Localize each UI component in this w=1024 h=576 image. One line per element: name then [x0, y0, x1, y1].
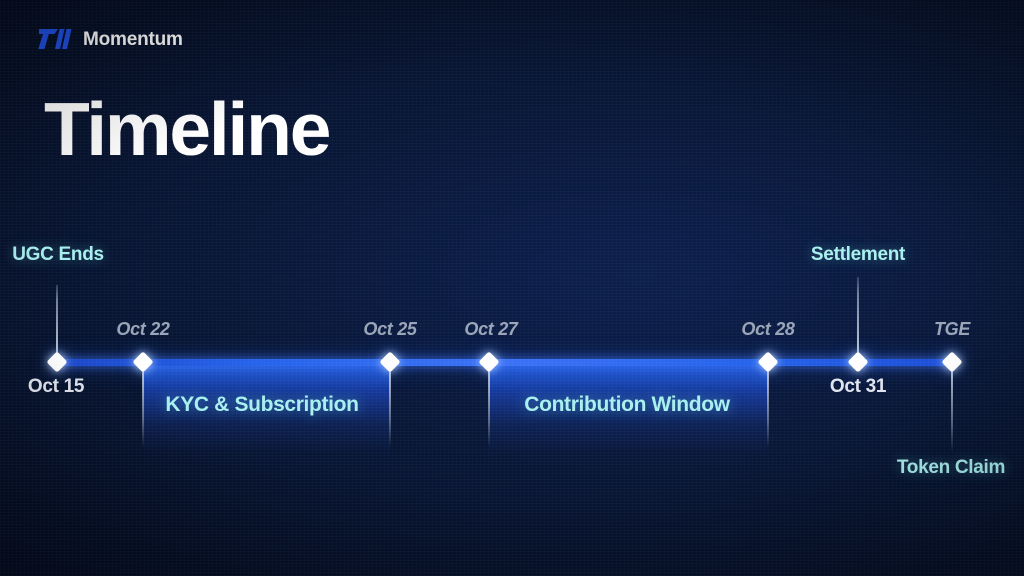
- phase-stem-oct-22: [142, 362, 144, 447]
- callout-label-ugc-ends: UGC Ends: [12, 244, 104, 266]
- date-label-oct-15: Oct 15: [28, 376, 84, 398]
- phase-stem-oct-27: [488, 362, 490, 447]
- phase-stem-oct-25: [389, 362, 391, 447]
- callout-stem-token-claim: [951, 362, 953, 452]
- date-label-oct-28: Oct 28: [741, 319, 794, 340]
- date-label-oct-22: Oct 22: [116, 319, 169, 340]
- timeline-axis: [57, 359, 952, 366]
- callout-stem-settlement: [857, 277, 859, 362]
- date-label-oct-31: Oct 31: [830, 376, 886, 398]
- timeline-marker-oct-31[interactable]: [847, 351, 868, 372]
- date-label-tge: TGE: [934, 319, 970, 340]
- phase-label-kyc: KYC & Subscription: [165, 393, 358, 417]
- callout-stem-ugc-ends: [56, 285, 58, 362]
- timeline-marker-tge[interactable]: [941, 351, 962, 372]
- timeline-chart: Oct 22 Oct 25 Oct 27 Oct 28 TGE Oct 15 O…: [0, 0, 1024, 576]
- callout-label-token-claim: Token Claim: [897, 457, 1005, 479]
- phase-stem-oct-28: [767, 362, 769, 447]
- callout-label-settlement: Settlement: [811, 244, 905, 266]
- phase-label-contribution: Contribution Window: [524, 393, 729, 417]
- slide-canvas: Momentum Timeline Oct 22 Oct 25 Oct 27 O…: [0, 0, 1024, 576]
- date-label-oct-25: Oct 25: [363, 319, 416, 340]
- timeline-marker-oct-15[interactable]: [46, 351, 67, 372]
- date-label-oct-27: Oct 27: [464, 319, 517, 340]
